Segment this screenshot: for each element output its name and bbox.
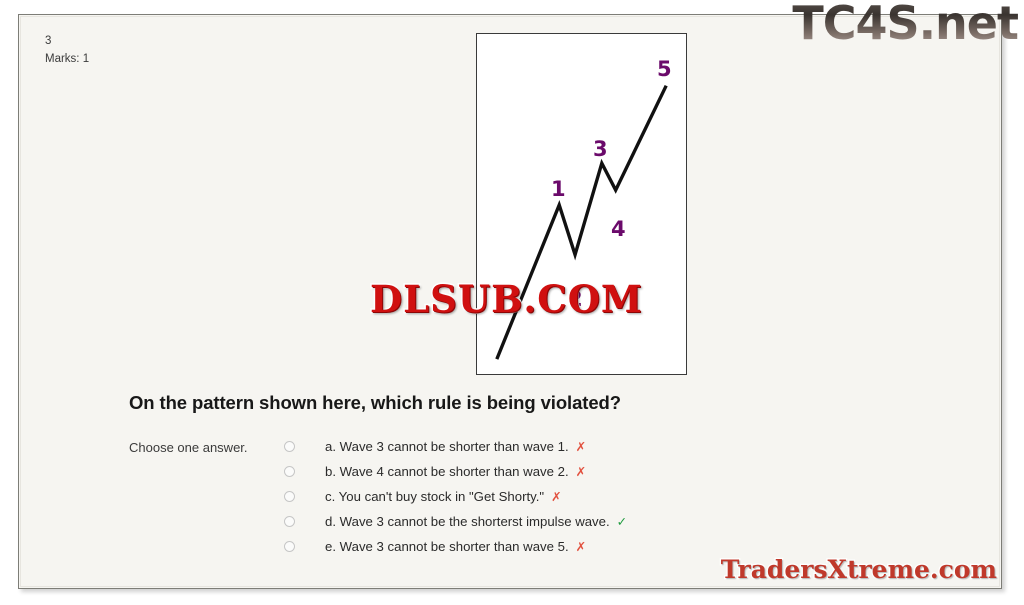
- answer-label: c. You can't buy stock in "Get Shorty.": [325, 489, 544, 504]
- answer-options-list: a. Wave 3 cannot be shorter than wave 1.…: [284, 434, 764, 559]
- correct-answer-icon: ✓: [617, 514, 627, 529]
- elliott-wave-chart: 12345: [476, 33, 687, 375]
- radio-button-a[interactable]: [284, 441, 295, 452]
- watermark-dlsub: DLSUB.COM: [370, 277, 643, 321]
- answer-label: b. Wave 4 cannot be shorter than wave 2.: [325, 464, 569, 479]
- wave-label-4: 4: [611, 219, 626, 240]
- question-meta: 3 Marks: 1: [45, 33, 89, 69]
- watermark-tc4s: TC4S.net: [792, 0, 1018, 50]
- question-title: On the pattern shown here, which rule is…: [129, 392, 621, 414]
- radio-button-c[interactable]: [284, 491, 295, 502]
- incorrect-answer-icon: ✗: [576, 439, 586, 454]
- question-marks: Marks: 1: [45, 51, 89, 69]
- answer-label: e. Wave 3 cannot be shorter than wave 5.: [325, 539, 569, 554]
- answer-option-a[interactable]: a. Wave 3 cannot be shorter than wave 1.…: [284, 434, 764, 459]
- answer-label: a. Wave 3 cannot be shorter than wave 1.: [325, 439, 569, 454]
- answer-option-c[interactable]: c. You can't buy stock in "Get Shorty."✗: [284, 484, 764, 509]
- incorrect-answer-icon: ✗: [551, 489, 561, 504]
- wave-label-3: 3: [593, 139, 608, 160]
- choose-one-answer-label: Choose one answer.: [129, 440, 248, 455]
- answer-label: d. Wave 3 cannot be the shorterst impuls…: [325, 514, 610, 529]
- answer-option-b[interactable]: b. Wave 4 cannot be shorter than wave 2.…: [284, 459, 764, 484]
- wave-label-1: 1: [551, 179, 566, 200]
- answer-option-d[interactable]: d. Wave 3 cannot be the shorterst impuls…: [284, 509, 764, 534]
- incorrect-answer-icon: ✗: [576, 539, 586, 554]
- watermark-tradersxtreme: TradersXtreme.com: [721, 555, 997, 584]
- wave-label-5: 5: [657, 59, 672, 80]
- wave-line-svg: [477, 34, 686, 374]
- radio-button-d[interactable]: [284, 516, 295, 527]
- answer-option-e[interactable]: e. Wave 3 cannot be shorter than wave 5.…: [284, 534, 764, 559]
- radio-button-e[interactable]: [284, 541, 295, 552]
- question-number: 3: [45, 33, 89, 51]
- radio-button-b[interactable]: [284, 466, 295, 477]
- incorrect-answer-icon: ✗: [576, 464, 586, 479]
